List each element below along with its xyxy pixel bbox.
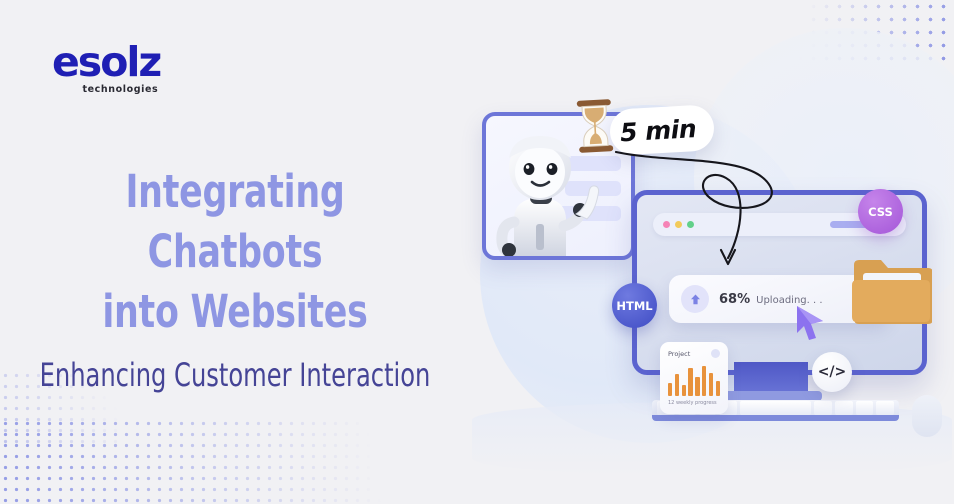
poster-canvas: esolz technologies Integrating Chatbots … [0, 0, 954, 504]
project-bar [675, 374, 679, 396]
headline-block: Integrating Chatbots into Websites Enhan… [0, 162, 470, 394]
folder-icon [850, 255, 932, 327]
brand-logo[interactable]: esolz technologies [52, 42, 160, 95]
monitor-stand [734, 362, 808, 394]
project-bar [688, 368, 692, 396]
project-card-caption: 12 weekly progress [668, 400, 720, 406]
badge-html: HTML [612, 283, 657, 328]
project-card-title: Project [668, 350, 690, 358]
project-bar [695, 377, 699, 396]
project-bar [709, 373, 713, 396]
badge-css-label: CSS [868, 205, 893, 219]
mouse-cursor-icon [792, 302, 828, 342]
project-stats-card: Project 12 weekly progress [660, 342, 728, 414]
keyboard-key [814, 401, 832, 415]
project-bar [716, 381, 720, 396]
badge-code-label: </> [818, 364, 847, 380]
illustration: 5 min [462, 0, 954, 504]
keyboard-key [876, 401, 894, 415]
project-bar [668, 383, 672, 396]
keyboard-key [856, 401, 874, 415]
dot-matrix-bottom-left-icon [0, 418, 420, 504]
pointer-arrow-icon [602, 140, 842, 300]
keyboard-spacebar [740, 401, 811, 415]
headline-line-2: into Websites [33, 282, 437, 342]
keyboard-key [835, 401, 853, 415]
mouse [912, 395, 942, 437]
headline-line-1: Integrating Chatbots [33, 162, 437, 282]
project-bar [702, 366, 706, 396]
project-bar-chart [668, 364, 720, 396]
badge-html-label: HTML [616, 299, 652, 313]
badge-css: CSS [858, 189, 903, 234]
project-card-menu-icon [711, 349, 720, 358]
headline-subtitle: Enhancing Customer Interaction [38, 356, 433, 394]
brand-name: esolz [52, 42, 160, 83]
project-bar [682, 385, 686, 396]
badge-code: </> [812, 352, 852, 392]
